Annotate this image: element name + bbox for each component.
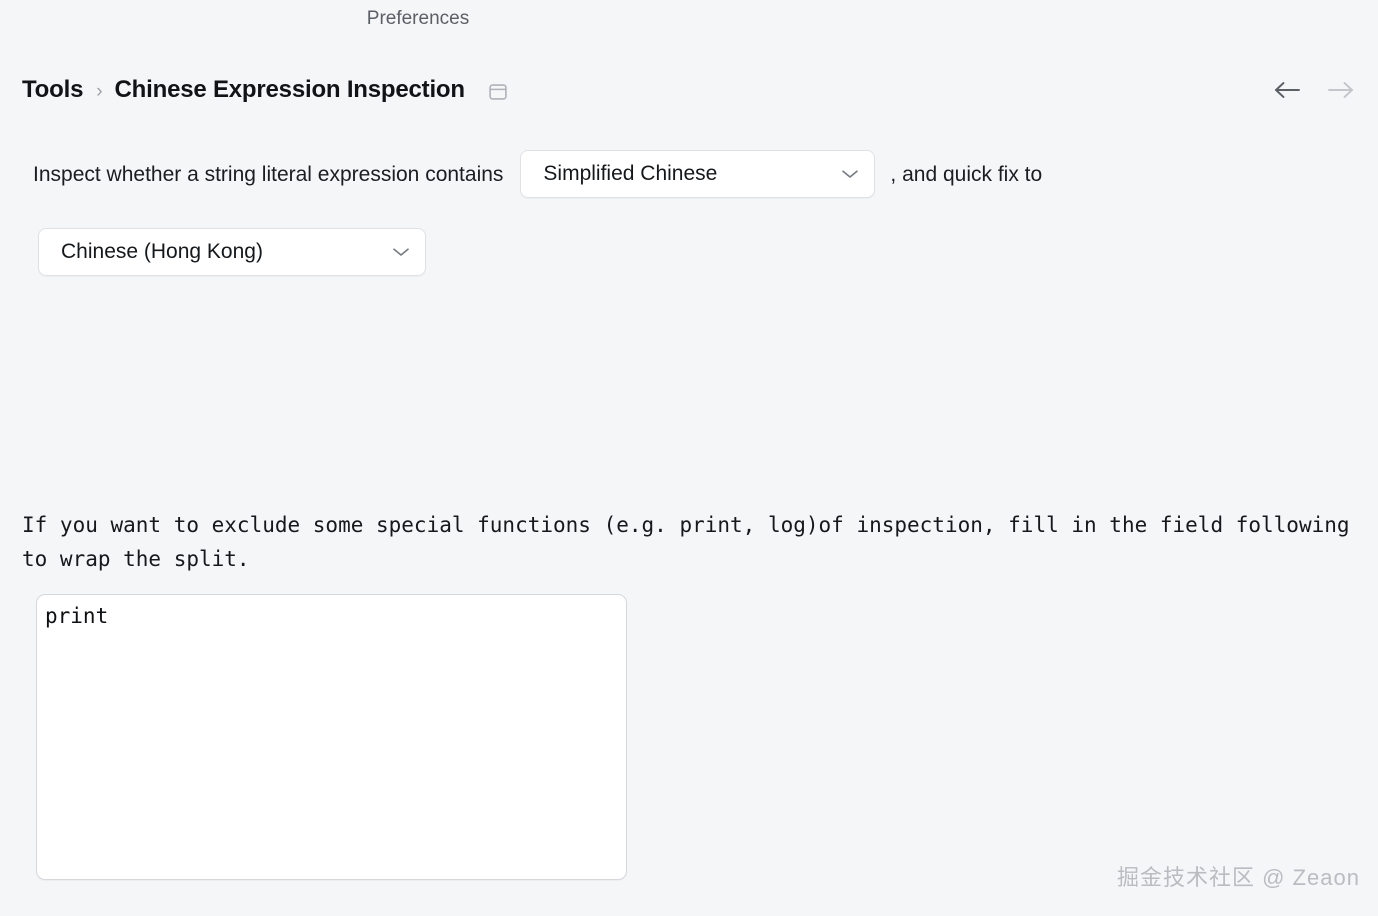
window-icon [489, 84, 507, 100]
breadcrumb-item-tools[interactable]: Tools [22, 76, 83, 104]
inspection-trail-label: , and quick fix to [890, 164, 1042, 185]
breadcrumb: Tools › Chinese Expression Inspection [22, 68, 507, 112]
page-header: Tools › Chinese Expression Inspection [0, 68, 1378, 112]
window-title: Preferences [0, 8, 836, 30]
breadcrumb-separator-icon: › [96, 82, 102, 101]
forward-button[interactable] [1326, 75, 1356, 105]
locale-select-value: Chinese (Hong Kong) [61, 240, 263, 264]
navigation-arrows [1272, 68, 1356, 112]
locale-setting-row: Chinese (Hong Kong) [0, 228, 1378, 276]
language-select[interactable]: Simplified Chinese [520, 150, 875, 198]
locale-select[interactable]: Chinese (Hong Kong) [38, 228, 426, 276]
inspection-setting-row: Inspect whether a string literal express… [0, 150, 1378, 198]
language-select-value: Simplified Chinese [543, 162, 717, 186]
back-button[interactable] [1272, 75, 1302, 105]
inspection-lead-label: Inspect whether a string literal express… [33, 164, 503, 185]
chevron-down-icon [812, 168, 860, 180]
exclude-description: If you want to exclude some special func… [22, 508, 1362, 576]
settings-area: Inspect whether a string literal express… [0, 150, 1378, 276]
watermark: 掘金技术社区 @ Zeaon [1117, 860, 1360, 892]
chevron-down-icon [363, 246, 411, 258]
exclude-functions-textarea[interactable] [36, 594, 627, 880]
page-title: Chinese Expression Inspection [115, 76, 465, 104]
